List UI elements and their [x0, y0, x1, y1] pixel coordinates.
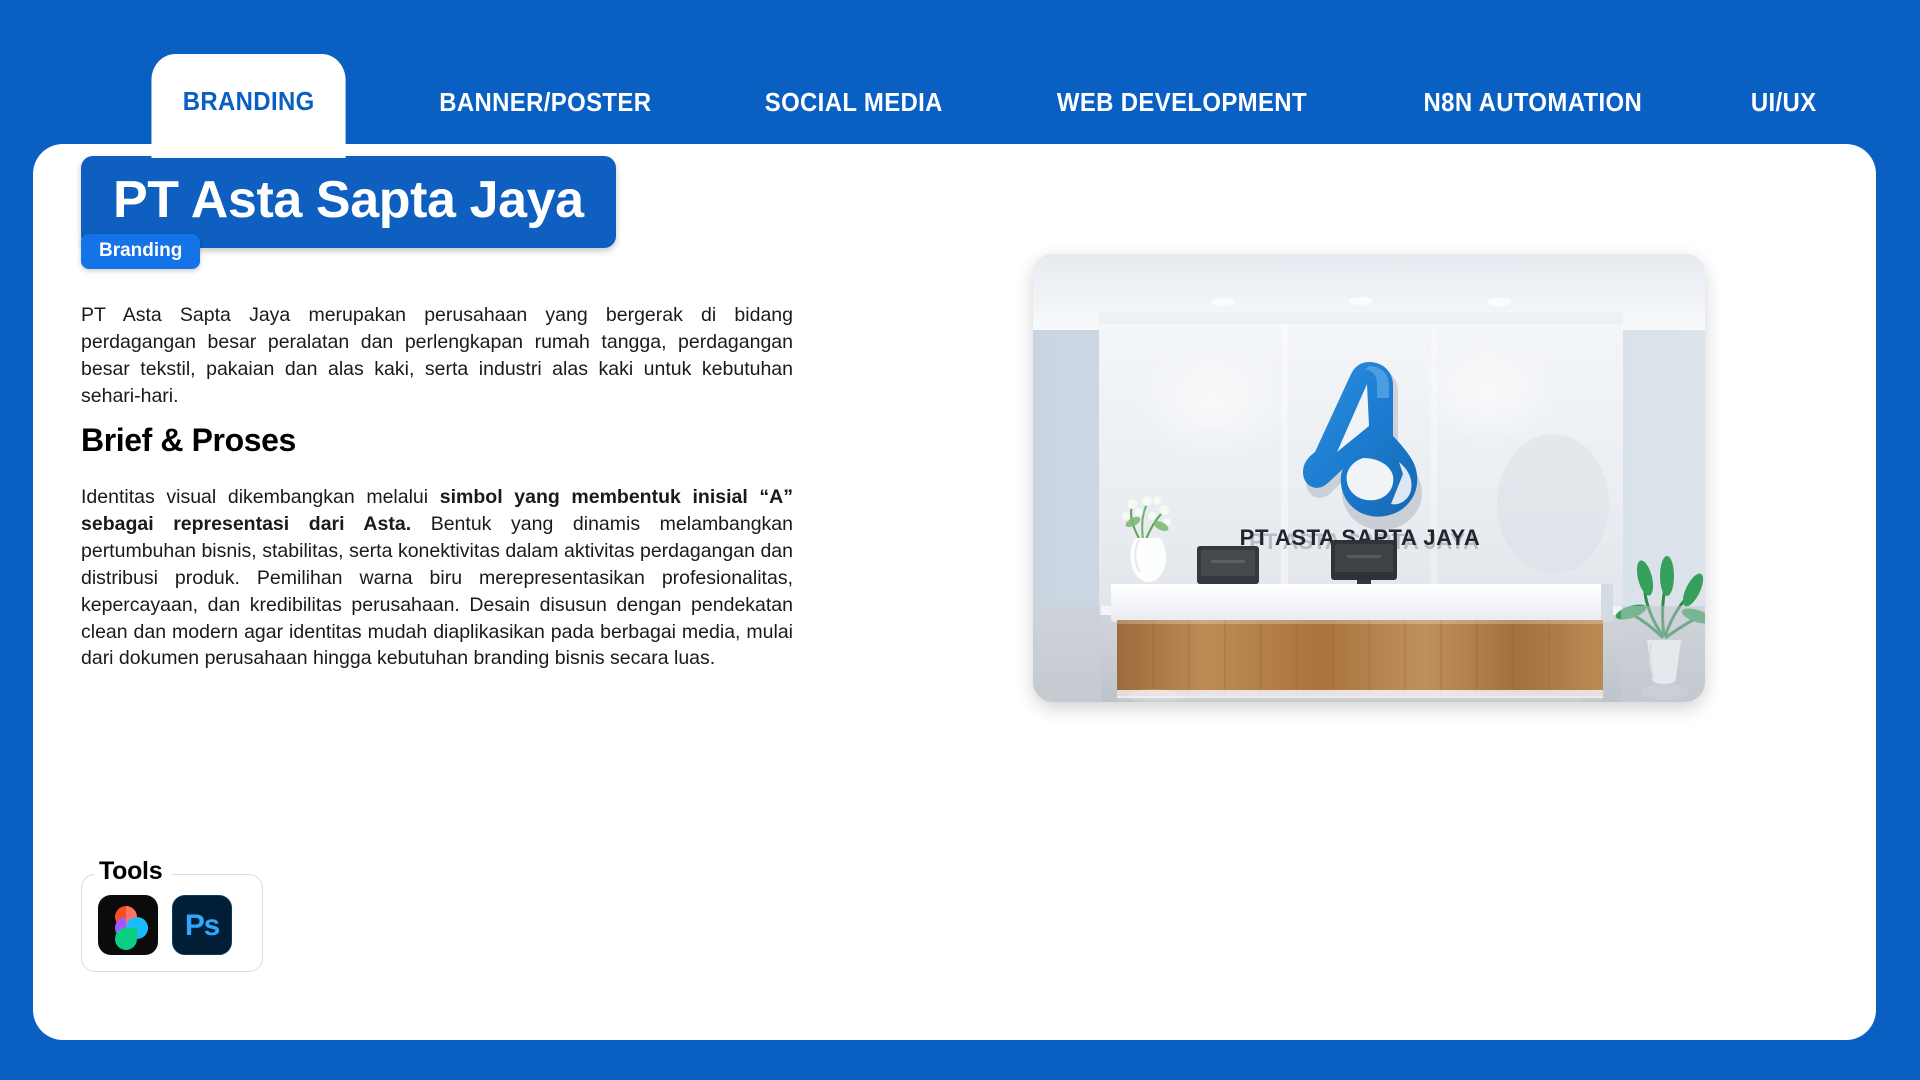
tools-icon-group: Ps	[81, 874, 263, 972]
tab-social-media[interactable]: SOCIAL MEDIA	[741, 56, 967, 148]
figma-glyph-green	[115, 928, 137, 950]
category-tabbar: BRANDING BANNER/POSTER SOCIAL MEDIA WEB …	[0, 0, 1920, 148]
content-card: PT Asta Sapta Jaya Branding PT Asta Sapt…	[33, 144, 1876, 1040]
tab-n8n-automation[interactable]: N8N AUTOMATION	[1400, 56, 1666, 148]
tab-social-media-label: SOCIAL MEDIA	[765, 87, 943, 118]
tab-banner-poster[interactable]: BANNER/POSTER	[416, 56, 676, 148]
project-details-column: PT Asta Sapta Jaya Branding PT Asta Sapt…	[81, 156, 871, 248]
figma-icon[interactable]	[98, 895, 158, 955]
project-title-group: PT Asta Sapta Jaya Branding	[81, 156, 616, 248]
status-badge: Branding	[81, 234, 200, 269]
tab-banner-poster-label: BANNER/POSTER	[440, 87, 652, 118]
brief-lead-text: Identitas visual dikembangkan melalui	[81, 486, 440, 508]
reception-desk	[1111, 584, 1613, 698]
brief-rest-text: Bentuk yang dinamis melambangkan pertumb…	[81, 513, 793, 670]
tab-web-development[interactable]: WEB DEVELOPMENT	[1033, 56, 1331, 148]
photoshop-icon[interactable]: Ps	[172, 895, 232, 955]
tab-ui-ux[interactable]: UI/UX	[1727, 56, 1840, 148]
reception-illustration: PT ASTA SAPTA JAYA PT ASTA SAPTA JAYA	[1033, 254, 1705, 702]
tab-branding-label: BRANDING	[183, 86, 315, 117]
tab-n8n-automation-label: N8N AUTOMATION	[1424, 87, 1643, 118]
tab-ui-ux-label: UI/UX	[1751, 87, 1817, 118]
tools-section: Tools Ps	[81, 874, 263, 972]
brief-section-heading: Brief & Proses	[81, 422, 296, 459]
project-intro-paragraph: PT Asta Sapta Jaya merupakan perusahaan …	[81, 302, 793, 410]
tab-branding[interactable]: BRANDING	[151, 54, 345, 148]
brief-paragraph: Identitas visual dikembangkan melalui si…	[81, 484, 793, 672]
slide-canvas: BRANDING BANNER/POSTER SOCIAL MEDIA WEB …	[0, 0, 1920, 1080]
branding-mockup-image: PT ASTA SAPTA JAYA PT ASTA SAPTA JAYA	[1033, 254, 1705, 702]
tab-web-development-label: WEB DEVELOPMENT	[1057, 87, 1307, 118]
tools-legend: Tools	[95, 857, 172, 886]
photoshop-icon-label: Ps	[185, 911, 219, 941]
